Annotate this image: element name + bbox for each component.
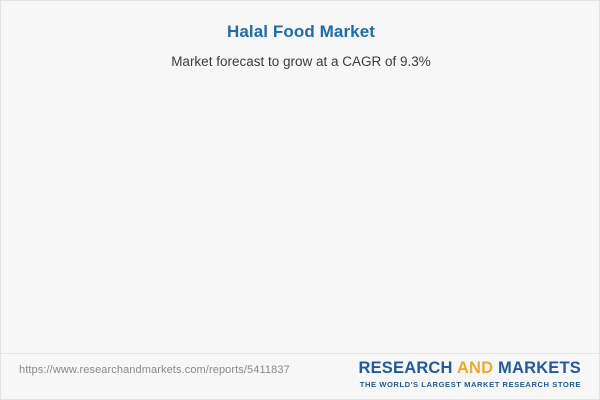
infographic-card: Halal Food Market Market forecast to gro… — [0, 0, 600, 400]
brand-logo[interactable]: RESEARCH AND MARKETS THE WORLD'S LARGEST… — [358, 359, 581, 389]
chart-plot-area: USD 2.67 Trillion 2024 USD 5.96 Trillion — [1, 1, 600, 353]
brand-logo-markets: MARKETS — [498, 359, 581, 377]
brand-logo-research: RESEARCH — [358, 359, 452, 377]
footer-divider — [1, 353, 600, 354]
source-url[interactable]: https://www.researchandmarkets.com/repor… — [19, 364, 290, 376]
brand-logo-and: AND — [457, 359, 493, 377]
brand-logo-wordmark: RESEARCH AND MARKETS — [358, 359, 581, 378]
brand-logo-tagline: THE WORLD'S LARGEST MARKET RESEARCH STOR… — [358, 380, 581, 389]
